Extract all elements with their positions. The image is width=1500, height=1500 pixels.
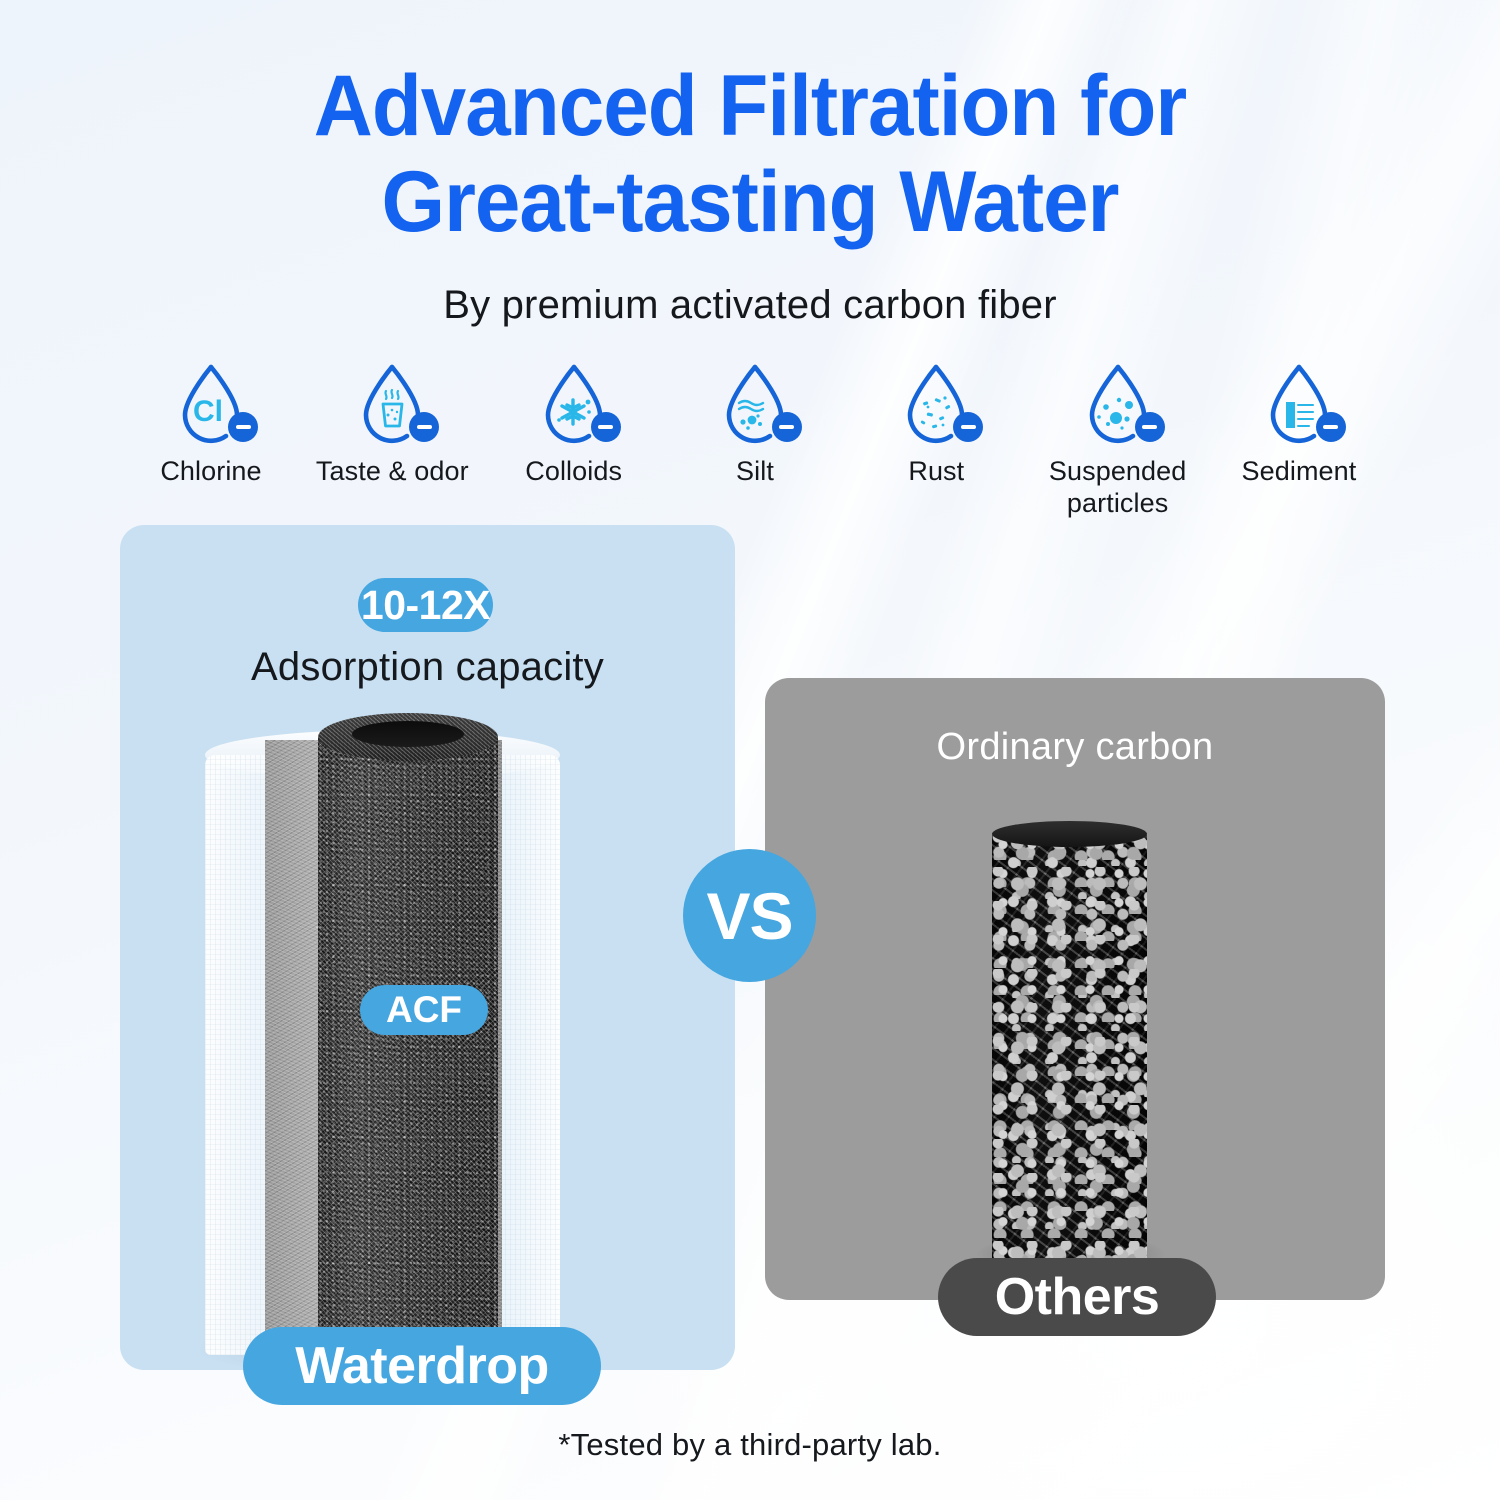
title-line-2: Great-tasting Water bbox=[38, 154, 1463, 250]
minus-badge-icon bbox=[1316, 412, 1346, 442]
minus-badge-icon bbox=[228, 412, 258, 442]
granular-carbon-top-ring bbox=[992, 821, 1147, 847]
adsorption-capacity-label: Adsorption capacity bbox=[120, 645, 735, 690]
acf-badge: ACF bbox=[360, 985, 488, 1035]
title-line-1: Advanced Filtration for bbox=[38, 58, 1463, 154]
contaminant-label: Silt bbox=[736, 456, 774, 488]
contaminant-item-sediment: Sediment bbox=[1218, 360, 1380, 488]
contaminant-item-colloids: Colloids bbox=[493, 360, 655, 488]
infographic-canvas: Advanced Filtration for Great-tasting Wa… bbox=[0, 0, 1500, 1500]
minus-badge-icon bbox=[772, 412, 802, 442]
droplet-chlorine-icon: Cl bbox=[168, 360, 254, 450]
acf-center-hole bbox=[352, 721, 464, 747]
waterdrop-brand-badge: Waterdrop bbox=[243, 1327, 601, 1405]
droplet-colloids-icon bbox=[531, 360, 617, 450]
contaminant-item-rust: Rust bbox=[855, 360, 1017, 488]
granular-carbon-block bbox=[992, 833, 1147, 1263]
page-subtitle: By premium activated carbon fiber bbox=[0, 283, 1500, 328]
svg-text:Cl: Cl bbox=[193, 395, 223, 428]
droplet-taste-odor-icon bbox=[349, 360, 435, 450]
others-brand-badge: Others bbox=[938, 1258, 1216, 1336]
contaminant-item-chlorine: Cl Chlorine bbox=[130, 360, 292, 488]
contaminant-label: Taste & odor bbox=[316, 456, 469, 488]
vs-badge: VS bbox=[683, 849, 816, 982]
contaminant-label: Sediment bbox=[1242, 456, 1357, 488]
droplet-sediment-icon bbox=[1256, 360, 1342, 450]
contaminant-icon-row: Cl Chlorine Taste bbox=[130, 360, 1380, 520]
droplet-rust-icon bbox=[893, 360, 979, 450]
minus-badge-icon bbox=[591, 412, 621, 442]
granular-carbon-cartridge-icon bbox=[765, 678, 1385, 1300]
contaminant-item-taste-odor: Taste & odor bbox=[311, 360, 473, 488]
acf-carbon-block bbox=[318, 737, 498, 1367]
contaminant-label: Chlorine bbox=[160, 456, 261, 488]
contaminant-item-silt: Silt bbox=[674, 360, 836, 488]
multiplier-badge: 10-12X bbox=[358, 578, 493, 632]
page-title: Advanced Filtration for Great-tasting Wa… bbox=[38, 58, 1463, 251]
droplet-silt-icon bbox=[712, 360, 798, 450]
contaminant-label: Rust bbox=[908, 456, 964, 488]
footnote: *Tested by a third-party lab. bbox=[0, 1427, 1500, 1463]
droplet-suspended-icon bbox=[1075, 360, 1161, 450]
contaminant-item-suspended-particles: Suspended particles bbox=[1037, 360, 1199, 520]
minus-badge-icon bbox=[1135, 412, 1165, 442]
contaminant-label: Suspended particles bbox=[1037, 456, 1199, 520]
contaminant-label: Colloids bbox=[525, 456, 622, 488]
